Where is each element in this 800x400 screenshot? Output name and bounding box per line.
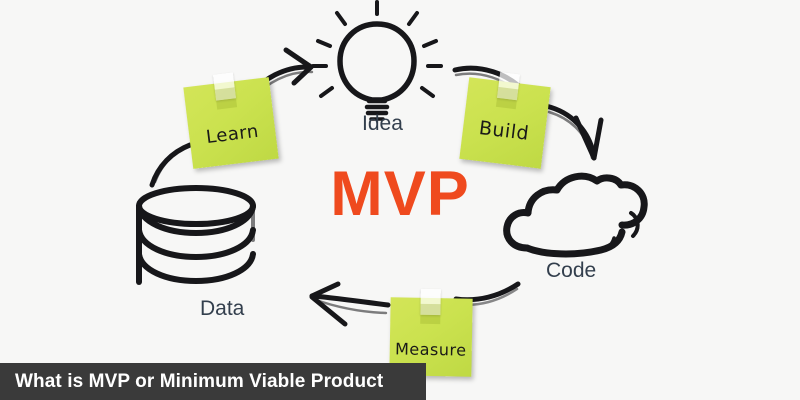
tape-shadow-icon — [495, 87, 517, 109]
sticky-note-measure-label: Measure — [390, 339, 472, 359]
node-label-data: Data — [200, 298, 244, 319]
tape-shadow-icon — [215, 87, 237, 109]
caption-text: What is MVP or Minimum Viable Product — [0, 371, 383, 393]
mvp-wordmark: MVP — [0, 163, 800, 226]
tape-shadow-icon — [420, 304, 440, 324]
mvp-diagram-canvas: MVP Idea Code Data Learn Build Measure W… — [0, 0, 800, 400]
arrow-build-to-code — [546, 106, 601, 158]
sticky-note-learn: Learn — [183, 77, 278, 169]
node-label-code: Code — [546, 260, 596, 281]
lightbulb-icon — [313, 2, 441, 119]
sticky-note-learn-label: Learn — [188, 119, 276, 150]
node-label-idea: Idea — [362, 113, 403, 134]
caption-bar: What is MVP or Minimum Viable Product — [0, 363, 426, 400]
arrow-measure-to-data — [312, 284, 388, 324]
sticky-note-build-label: Build — [462, 115, 546, 147]
sticky-note-build: Build — [459, 77, 550, 168]
